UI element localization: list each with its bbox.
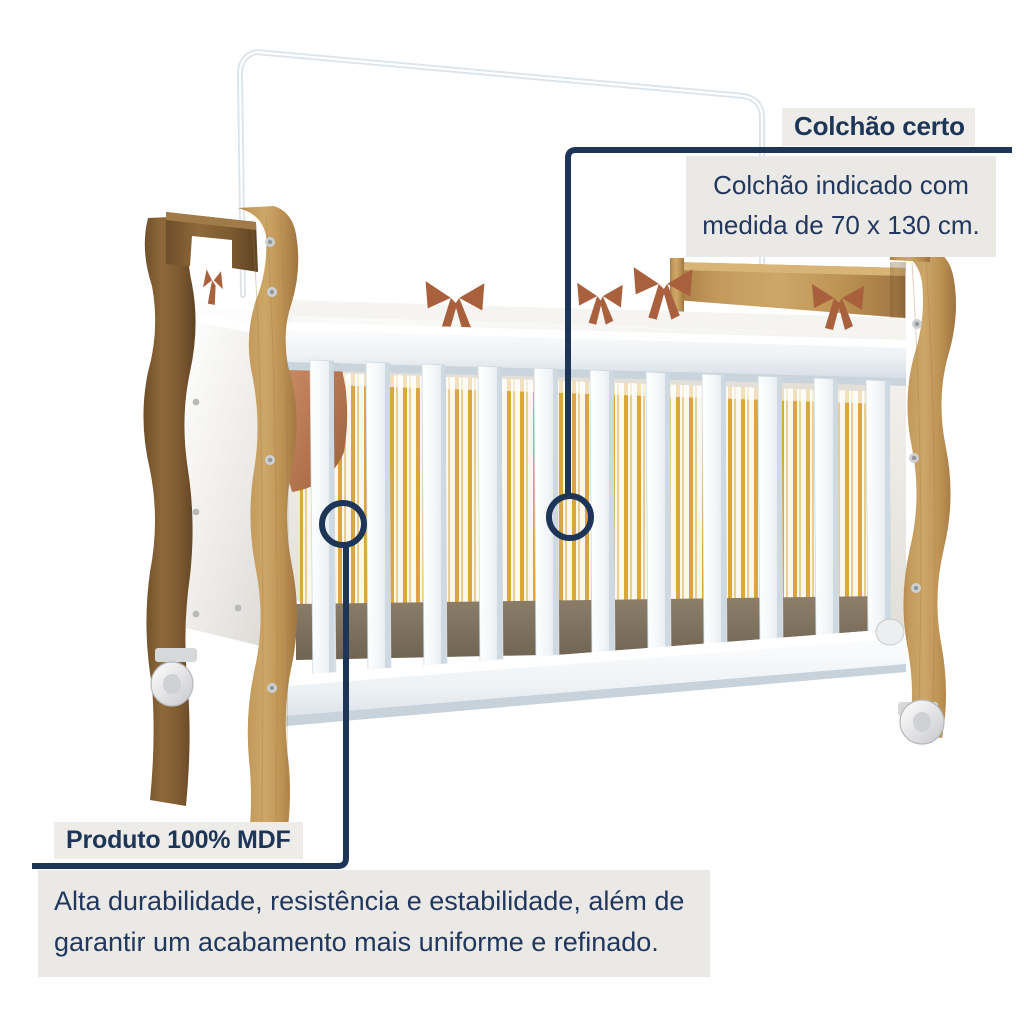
infographic-canvas: Colchão certo Colchão indicado com medid… xyxy=(0,0,1024,1024)
callout-mattress: Colchão certo Colchão indicado com medid… xyxy=(686,108,1024,257)
connector-mdf xyxy=(32,503,364,866)
callout-mattress-title: Colchão certo xyxy=(782,108,975,146)
callout-mdf-body: Alta durabilidade, resistência e estabil… xyxy=(38,870,710,977)
callout-mdf-title: Produto 100% MDF xyxy=(54,822,303,859)
callout-mdf: Produto 100% MDF Alta durabilidade, resi… xyxy=(38,822,728,977)
callout-mattress-body: Colchão indicado com medida de 70 x 130 … xyxy=(686,156,996,257)
